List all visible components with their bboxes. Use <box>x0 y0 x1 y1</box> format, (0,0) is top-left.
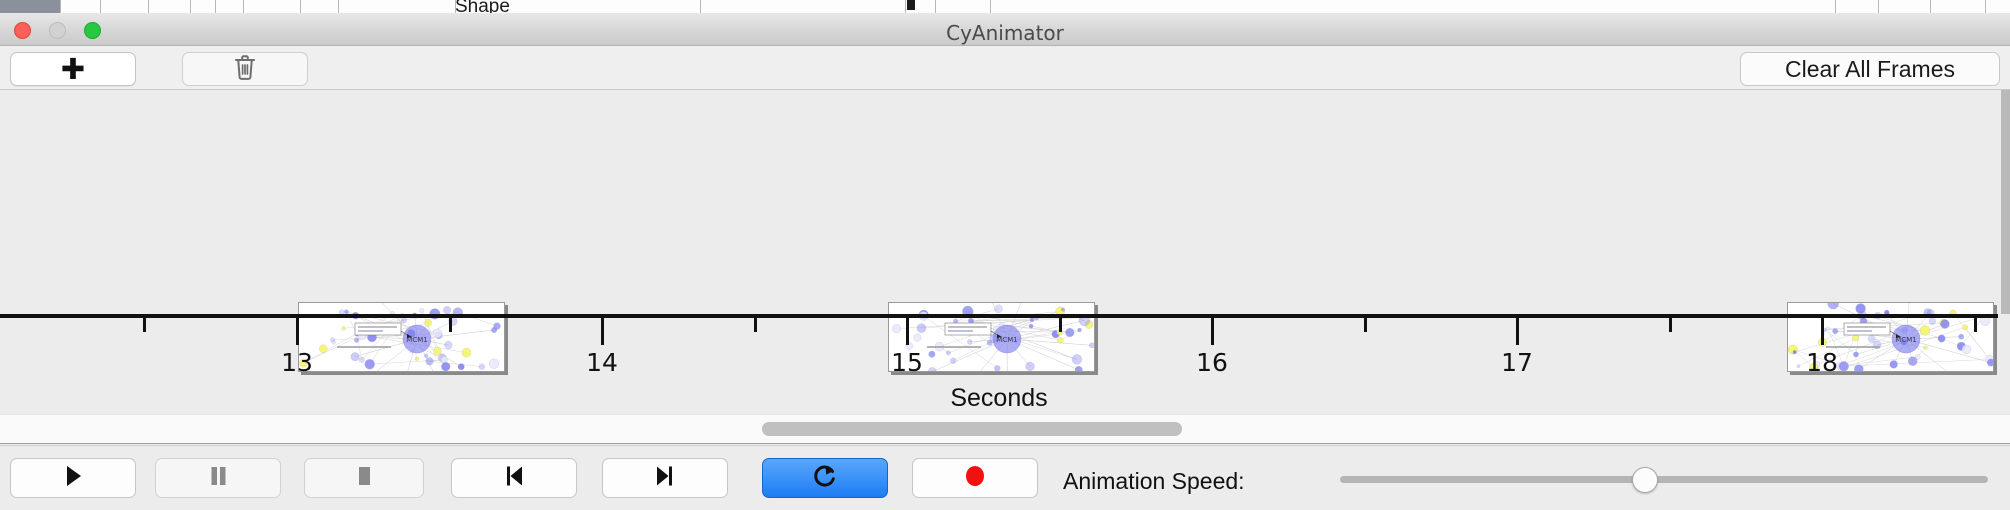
background-window-divider <box>148 0 149 13</box>
background-window-divider <box>455 0 456 13</box>
plus-icon: ✚ <box>61 55 85 84</box>
background-window-partial-label: Shape <box>455 0 510 13</box>
background-window-marker <box>907 0 915 10</box>
timeline-tick-label: 14 <box>586 348 618 377</box>
add-frame-button[interactable]: ✚ <box>10 52 136 86</box>
timeline-tick-label: 15 <box>891 348 923 377</box>
stop-button[interactable] <box>304 458 424 498</box>
skip-previous-icon <box>501 463 527 493</box>
background-window-strip: Shape <box>0 0 2010 13</box>
play-icon <box>60 463 86 493</box>
background-window-divider <box>1835 0 1836 13</box>
timeline-ruler-line <box>0 314 1998 318</box>
background-window-divider <box>215 0 216 13</box>
play-button[interactable] <box>10 458 136 498</box>
timeline-major-tick <box>296 318 299 345</box>
scrollbar-thumb[interactable] <box>762 422 1182 436</box>
timeline-frame-thumbnail[interactable]: MCM1 <box>298 302 505 372</box>
background-window-divider <box>243 0 244 13</box>
timeline-major-tick <box>906 318 909 345</box>
toolbar: ✚ Clear All Frames <box>0 46 2010 90</box>
background-window-selected-tab <box>0 0 60 13</box>
timeline-tick-label: 17 <box>1501 348 1533 377</box>
record-icon <box>962 463 988 493</box>
background-window-divider <box>60 0 61 13</box>
background-window-divider <box>100 0 101 13</box>
timeline-horizontal-scrollbar[interactable] <box>0 414 2010 444</box>
background-window-divider <box>300 0 301 13</box>
timeline-minor-tick <box>449 318 452 332</box>
clear-all-frames-button[interactable]: Clear All Frames <box>1740 52 2000 86</box>
background-window-divider <box>905 0 906 13</box>
loop-icon <box>811 462 839 494</box>
background-window-divider <box>1985 0 1986 13</box>
background-window-divider <box>190 0 191 13</box>
timeline-major-tick <box>1821 318 1824 345</box>
stop-icon <box>351 463 377 493</box>
timeline-tick-label: 13 <box>281 348 313 377</box>
prev-button[interactable] <box>451 458 577 498</box>
timeline-axis-title: Seconds <box>0 384 1998 413</box>
clear-all-frames-label: Clear All Frames <box>1785 56 1955 83</box>
background-window-divider <box>1930 0 1931 13</box>
record-button[interactable] <box>912 458 1038 498</box>
loop-button[interactable] <box>762 458 888 498</box>
timeline-panel[interactable]: MCM1 MCM1 MCM1 2131415161718 Seconds <box>0 90 2010 414</box>
playback-control-bar: Animation Speed: <box>0 445 2010 510</box>
background-window-divider <box>1878 0 1879 13</box>
timeline-minor-tick <box>1974 318 1977 332</box>
timeline-major-tick <box>1211 318 1214 345</box>
skip-next-icon <box>652 463 678 493</box>
timeline-tick-label: 16 <box>1196 348 1228 377</box>
background-window-divider <box>935 0 936 13</box>
window-title: CyAnimator <box>0 21 2010 45</box>
timeline-minor-tick <box>754 318 757 332</box>
timeline-minor-tick <box>1059 318 1062 332</box>
timeline-minor-tick <box>1669 318 1672 332</box>
trash-icon <box>233 54 257 85</box>
timeline-major-tick <box>601 318 604 345</box>
animation-speed-slider[interactable] <box>1340 476 1988 483</box>
pause-button[interactable] <box>155 458 281 498</box>
animation-speed-slider-thumb[interactable] <box>1632 467 1658 493</box>
timeline-major-tick <box>1516 318 1519 345</box>
pause-icon <box>205 463 231 493</box>
timeline-minor-tick <box>143 318 146 332</box>
background-window-divider <box>338 0 339 13</box>
animation-speed-label: Animation Speed: <box>1063 468 1245 495</box>
next-button[interactable] <box>602 458 728 498</box>
background-window-divider <box>990 0 991 13</box>
background-window-divider <box>700 0 701 13</box>
timeline-minor-tick <box>1364 318 1367 332</box>
timeline-tick-label: 18 <box>1806 348 1838 377</box>
window-titlebar: CyAnimator <box>0 13 2010 46</box>
delete-frame-button[interactable] <box>182 52 308 86</box>
